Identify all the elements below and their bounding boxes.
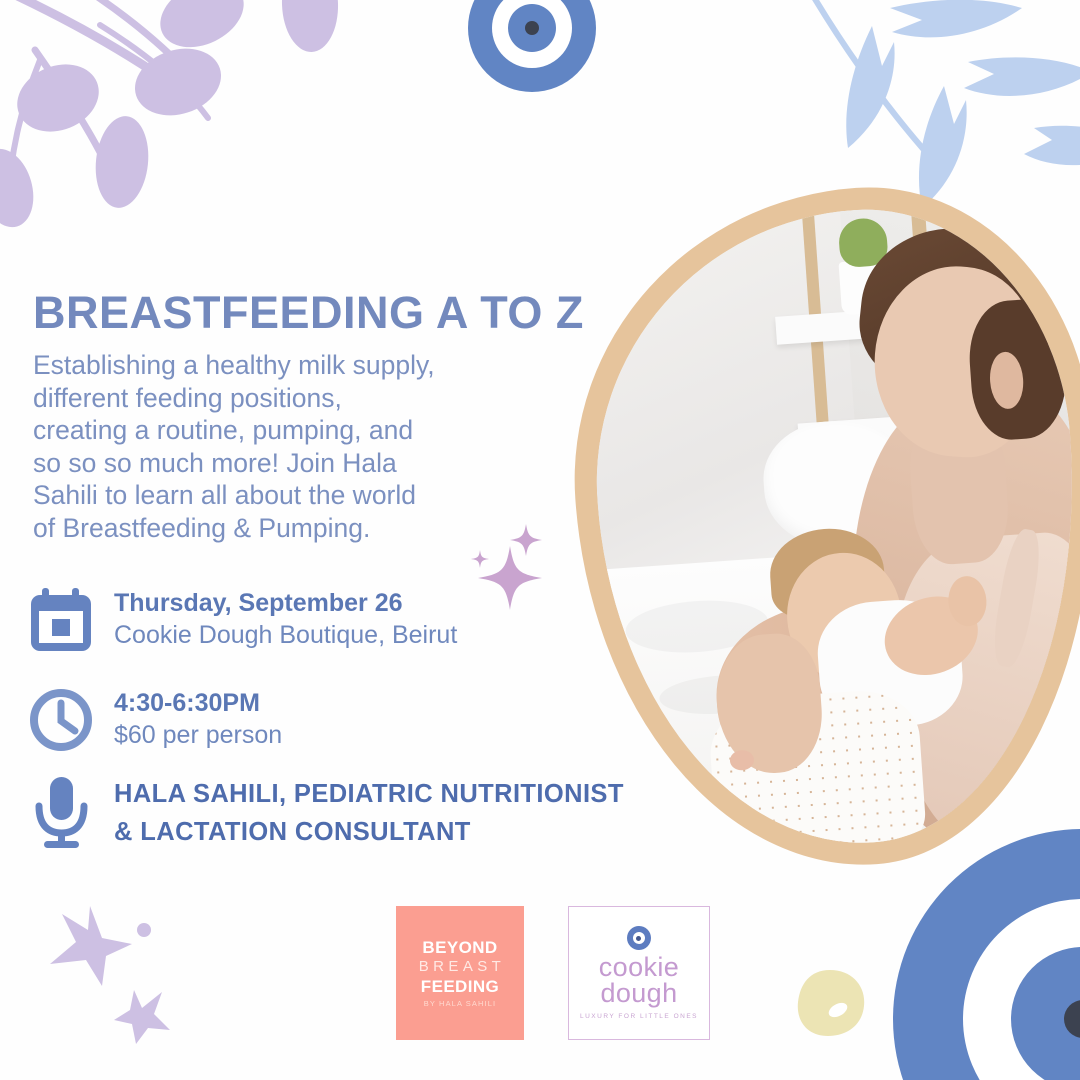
bbf-line-3: FEEDING [415,977,505,996]
date-secondary: Cookie Dough Boutique, Beirut [114,619,457,652]
description-paragraph: Establishing a healthy milk supply, diff… [33,349,553,544]
cookie-dough-line-1: cookie [580,954,698,980]
description-line: creating a routine, pumping, and [33,414,553,447]
time-secondary: $60 per person [114,719,282,752]
bbf-line-2: BREAST [415,957,505,977]
description-line: Sahili to learn all about the world [33,479,553,512]
lavender-branch-top-left-icon [0,0,370,320]
page-title: BREASTFEEDING A TO Z [33,287,584,339]
detail-row-date: Thursday, September 26 Cookie Dough Bout… [30,588,457,652]
description-line: Establishing a healthy milk supply, [33,349,553,382]
description-line: so so so much more! Join Hala [33,447,553,480]
mother-baby-photo [579,196,1080,860]
description-line: different feeding positions, [33,382,553,415]
evil-eye-top-center-icon [466,0,598,94]
hero-photo [578,190,1080,866]
poster-canvas: BREASTFEEDING A TO Z Establishing a heal… [0,0,1080,1080]
bbf-byline: BY HALA SAHILI [415,999,505,1008]
cookie-dough-tagline: LUXURY FOR LITTLE ONES [580,1013,698,1020]
host-line-2: & LACTATION CONSULTANT [114,813,624,851]
logo-cookie-dough: cookie dough LUXURY FOR LITTLE ONES [568,906,710,1040]
host-line-1: HALA SAHILI, PEDIATRIC NUTRITIONIST [114,775,624,813]
time-primary: 4:30-6:30PM [114,688,282,719]
date-primary: Thursday, September 26 [114,588,457,619]
detail-row-host: HALA SAHILI, PEDIATRIC NUTRITIONIST & LA… [30,775,624,851]
description-line: of Breastfeeding & Pumping. [33,512,553,545]
cookie-dough-line-2: dough [580,980,698,1006]
logo-beyond-breastfeeding: BEYOND BREAST FEEDING BY HALA SAHILI [396,906,524,1040]
yellow-blob-icon [794,968,868,1038]
bbf-line-1: BEYOND [415,938,505,957]
microphone-icon [30,775,92,849]
cookie-dough-evil-eye-icon [627,926,651,950]
calendar-icon [30,588,92,652]
photo-clip [579,196,1080,860]
detail-row-time: 4:30-6:30PM $60 per person [30,688,282,752]
clock-icon [30,688,92,752]
lavender-stars-icon [32,892,212,1044]
